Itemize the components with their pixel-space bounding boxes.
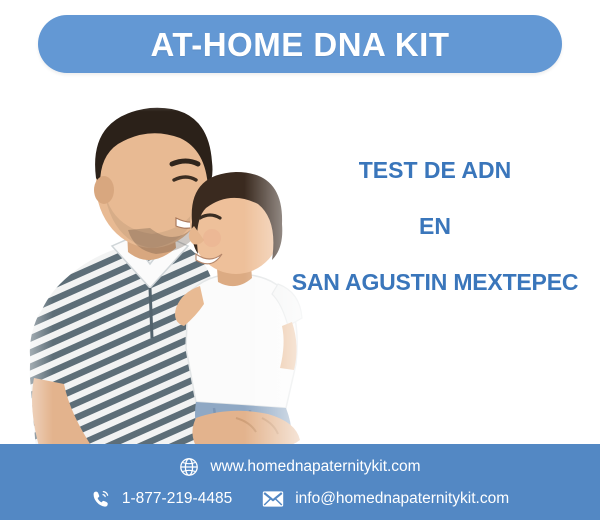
footer-contact-row: 1-877-219-4485 info@homednapaternitykit.… xyxy=(0,484,600,514)
envelope-icon xyxy=(262,490,284,508)
footer-phone-label: 1-877-219-4485 xyxy=(122,491,232,507)
header-banner: AT-HOME DNA KIT xyxy=(38,15,562,73)
footer-email[interactable]: info@homednapaternitykit.com xyxy=(262,490,509,508)
footer-website-row: www.homednapaternitykit.com xyxy=(0,452,600,482)
footer-website-label: www.homednapaternitykit.com xyxy=(210,459,420,475)
headline-line-3: SAN AGUSTIN MEXTEPEC xyxy=(276,270,594,294)
headline-line-2: EN xyxy=(276,214,594,238)
poster-canvas: AT-HOME DNA KIT xyxy=(0,0,600,520)
phone-icon xyxy=(91,489,111,509)
headline-line-1: TEST DE ADN xyxy=(276,158,594,182)
page-title: AT-HOME DNA KIT xyxy=(151,28,450,61)
footer-website[interactable]: www.homednapaternitykit.com xyxy=(179,457,420,477)
footer-bar: www.homednapaternitykit.com 1-877-219-44… xyxy=(0,444,600,520)
globe-icon xyxy=(179,457,199,477)
footer-email-label: info@homednapaternitykit.com xyxy=(295,491,509,507)
footer-phone[interactable]: 1-877-219-4485 xyxy=(91,489,232,509)
headline-block: TEST DE ADN EN SAN AGUSTIN MEXTEPEC xyxy=(276,158,594,294)
